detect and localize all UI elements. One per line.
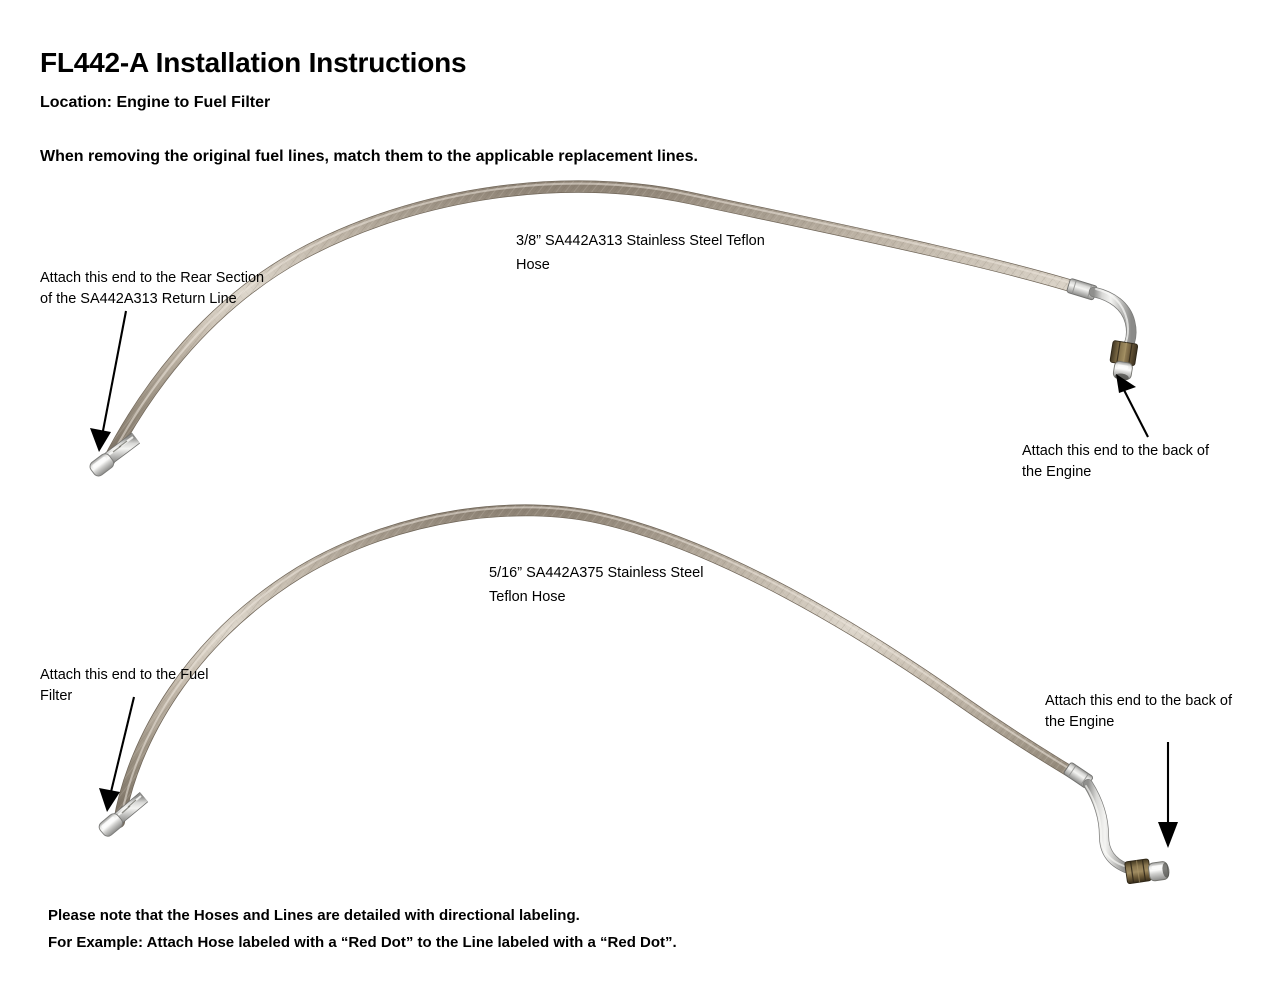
- arrow-upper-right: [1116, 374, 1148, 437]
- upper-hose-left-callout-line1: Attach this end to the Rear Section: [40, 268, 310, 289]
- lower-hose-left-callout: Attach this end to the Fuel Filter: [40, 665, 280, 707]
- upper-hose-right-fitting: [1066, 278, 1138, 382]
- upper-hose-braid: [108, 184, 1078, 462]
- lower-hose-label-line2: Teflon Hose: [489, 585, 759, 609]
- upper-hose-right-callout: Attach this end to the back of the Engin…: [1022, 441, 1272, 483]
- lower-hose-left-callout-line1: Attach this end to the Fuel: [40, 665, 280, 686]
- upper-hose-label-line2: Hose: [516, 253, 816, 277]
- intro-instruction: When removing the original fuel lines, m…: [40, 148, 698, 166]
- upper-hose-label-line1: 3/8” SA442A313 Stainless Steel Teflon: [516, 229, 816, 253]
- upper-hose-left-callout: Attach this end to the Rear Section of t…: [40, 268, 310, 310]
- lower-hose-left-fitting: [97, 796, 144, 838]
- upper-hose-left-fitting: [88, 437, 136, 478]
- upper-hose-right-callout-line2: the Engine: [1022, 462, 1272, 483]
- upper-hose-left-callout-line2: of the SA442A313 Return Line: [40, 289, 310, 310]
- arrow-lower-right: [1158, 742, 1178, 848]
- lower-hose-label: 5/16” SA442A375 Stainless Steel Teflon H…: [489, 561, 759, 609]
- footer-note: Please note that the Hoses and Lines are…: [48, 902, 677, 956]
- lower-hose-right-callout: Attach this end to the back of the Engin…: [1045, 691, 1280, 733]
- footer-note-line2: For Example: Attach Hose labeled with a …: [48, 929, 677, 956]
- lower-hose-right-fitting: [1063, 762, 1170, 884]
- footer-note-line1: Please note that the Hoses and Lines are…: [48, 902, 677, 929]
- upper-hose-label: 3/8” SA442A313 Stainless Steel Teflon Ho…: [516, 229, 816, 277]
- lower-hose-label-line1: 5/16” SA442A375 Stainless Steel: [489, 561, 759, 585]
- lower-hose-right-callout-line1: Attach this end to the back of: [1045, 691, 1280, 712]
- upper-hose-assembly: [88, 184, 1148, 479]
- arrow-upper-left: [90, 311, 126, 452]
- instruction-sheet-page: FL442-A Installation Instructions Locati…: [0, 0, 1280, 989]
- lower-hose-left-callout-line2: Filter: [40, 686, 280, 707]
- page-subtitle: Location: Engine to Fuel Filter: [40, 94, 270, 112]
- page-title: FL442-A Installation Instructions: [40, 47, 466, 79]
- upper-hose-right-callout-line1: Attach this end to the back of: [1022, 441, 1272, 462]
- arrow-lower-left: [99, 697, 134, 812]
- lower-hose-right-callout-line2: the Engine: [1045, 712, 1280, 733]
